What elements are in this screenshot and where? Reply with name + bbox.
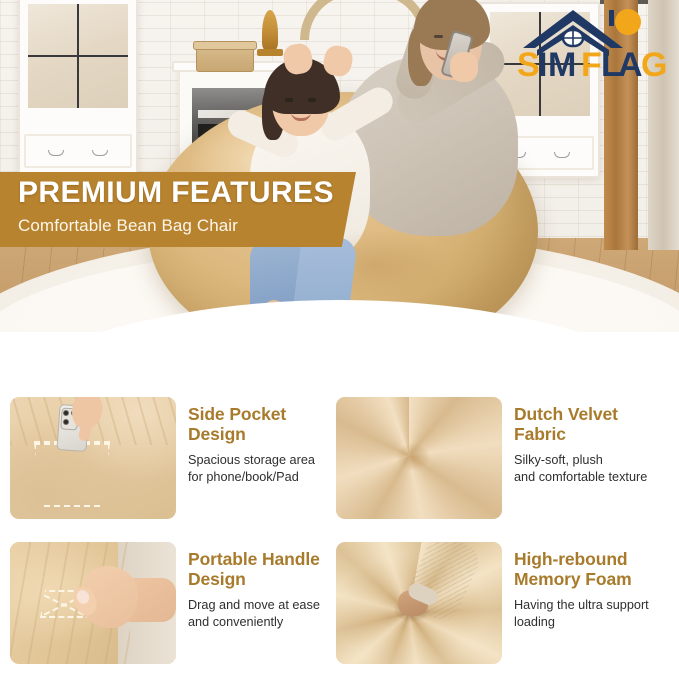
feature-image-memory-foam: [336, 542, 502, 664]
feature-desc-line2: for phone/book/Pad: [188, 470, 299, 484]
feature-desc-line1: Silky-soft, plush: [514, 453, 603, 467]
feature-image-velvet-fabric: [336, 397, 502, 519]
child-eye: [285, 98, 293, 102]
feature-title-line2: Memory Foam: [514, 569, 632, 589]
drawer-knob-icon: [554, 152, 570, 158]
svg-text:G: G: [641, 46, 667, 80]
feature-title-line2: Design: [188, 569, 246, 589]
feature-title: Portable Handle Design: [188, 549, 344, 590]
drawer-knob-icon: [92, 150, 108, 156]
feature-title: High-rebound Memory Foam: [514, 549, 670, 590]
feature-grid: Side Pocket Design Spacious storage area…: [0, 392, 679, 669]
feature-title-line1: Portable Handle: [188, 549, 320, 569]
feature-title: Side Pocket Design: [188, 404, 344, 445]
feature-image-portable-handle: [10, 542, 176, 664]
feature-title-line1: High-rebound: [514, 549, 628, 569]
brand-logo-text: S: [517, 46, 540, 80]
feature-text-block: Dutch Velvet Fabric Silky-soft, plush an…: [514, 404, 670, 486]
premium-features-banner: PREMIUM FEATURES Comfortable Bean Bag Ch…: [0, 172, 356, 247]
feature-title-line2: Fabric: [514, 424, 566, 444]
feature-title: Dutch Velvet Fabric: [514, 404, 670, 445]
brand-logo: S I M F L A G: [511, 4, 671, 80]
cabinet-glass-doors: [26, 2, 130, 110]
mother-hand: [450, 52, 478, 82]
pocket-stitch-outline: [34, 443, 110, 507]
woven-basket: [196, 44, 254, 72]
feature-card-memory-foam: High-rebound Memory Foam Having the ultr…: [336, 537, 669, 675]
feature-card-portable-handle: Portable Handle Design Drag and move at …: [10, 537, 343, 675]
cabinet-drawer: [24, 134, 132, 168]
child-eye: [308, 98, 316, 102]
feature-image-side-pocket: [10, 397, 176, 519]
feature-text-block: Portable Handle Design Drag and move at …: [188, 549, 344, 631]
feature-description: Spacious storage area for phone/book/Pad: [188, 452, 344, 486]
drawer-knob-icon: [48, 150, 64, 156]
svg-text:F: F: [581, 46, 602, 80]
banner-subtitle: Comfortable Bean Bag Chair: [18, 216, 238, 236]
feature-description: Silky-soft, plush and comfortable textur…: [514, 452, 670, 486]
feature-text-block: High-rebound Memory Foam Having the ultr…: [514, 549, 670, 631]
svg-text:A: A: [618, 46, 643, 80]
feature-desc-line1: Having the ultra support: [514, 598, 649, 612]
svg-text:M: M: [548, 46, 576, 80]
feature-description: Drag and move at ease and conveniently: [188, 597, 344, 631]
display-cabinet-left: [18, 0, 138, 176]
feature-title-line2: Design: [188, 424, 246, 444]
mother-eye: [434, 35, 443, 38]
feature-description: Having the ultra support loading: [514, 597, 670, 631]
feature-desc-line2: loading: [514, 615, 555, 629]
feature-desc-line1: Spacious storage area: [188, 453, 315, 467]
feature-card-dutch-velvet-fabric: Dutch Velvet Fabric Silky-soft, plush an…: [336, 392, 669, 530]
svg-text:I: I: [538, 46, 547, 80]
banner-title: PREMIUM FEATURES: [18, 176, 334, 210]
hero-bottom-mask: [0, 332, 679, 380]
feature-desc-line2: and conveniently: [188, 615, 283, 629]
gold-vase: [262, 10, 278, 50]
feature-desc-line2: and comfortable texture: [514, 470, 647, 484]
feature-title-line1: Dutch Velvet: [514, 404, 618, 424]
feature-title-line1: Side Pocket: [188, 404, 286, 424]
camera-lens-icon: [63, 419, 69, 425]
feature-desc-line1: Drag and move at ease: [188, 598, 320, 612]
velvet-swirl-center: [396, 443, 430, 471]
feature-text-block: Side Pocket Design Spacious storage area…: [188, 404, 344, 486]
camera-lens-icon: [63, 410, 69, 416]
feature-card-side-pocket: Side Pocket Design Spacious storage area…: [10, 392, 343, 530]
